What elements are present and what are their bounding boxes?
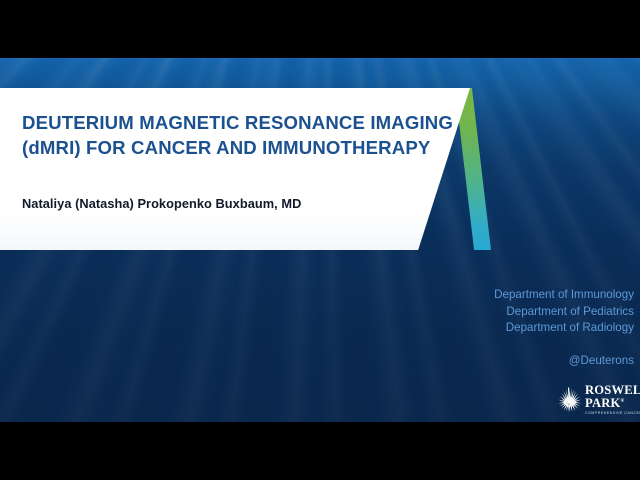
title-line-1: DEUTERIUM MAGNETIC RESONANCE IMAGING — [22, 110, 450, 135]
affiliation-item: Department of Immunology — [494, 287, 634, 304]
affiliation-item: Department of Pediatrics — [494, 304, 634, 321]
logo-word-park: PARK® — [585, 396, 640, 410]
slide-title: DEUTERIUM MAGNETIC RESONANCE IMAGING (dM… — [22, 110, 450, 160]
letterbox-bar-bottom — [0, 422, 640, 480]
logo-word-roswell: ROSWELL — [585, 385, 640, 397]
author-name: Nataliya (Natasha) Prokopenko Buxbaum, M… — [22, 196, 301, 211]
roswell-starburst-icon — [556, 385, 582, 415]
letterbox-bar-top — [0, 0, 640, 58]
roswell-park-logo: ROSWELL PARK® COMPREHENSIVE CANCER CENTE… — [556, 383, 636, 417]
affiliation-item: Department of Radiology — [494, 320, 634, 337]
social-handle: @Deuterons — [494, 353, 634, 369]
affiliation-list: Department of Immunology Department of P… — [494, 287, 634, 369]
logo-tagline: COMPREHENSIVE CANCER CENTER — [585, 412, 640, 416]
title-line-2: (dMRI) FOR CANCER AND IMMUNOTHERAPY — [22, 135, 450, 160]
presentation-slide: DEUTERIUM MAGNETIC RESONANCE IMAGING (dM… — [0, 58, 640, 422]
video-player-frame: DEUTERIUM MAGNETIC RESONANCE IMAGING (dM… — [0, 0, 640, 480]
roswell-wordmark: ROSWELL PARK® COMPREHENSIVE CANCER CENTE… — [585, 385, 640, 415]
registered-trademark-icon: ® — [621, 399, 625, 404]
logo-word-park-text: PARK — [585, 397, 621, 411]
